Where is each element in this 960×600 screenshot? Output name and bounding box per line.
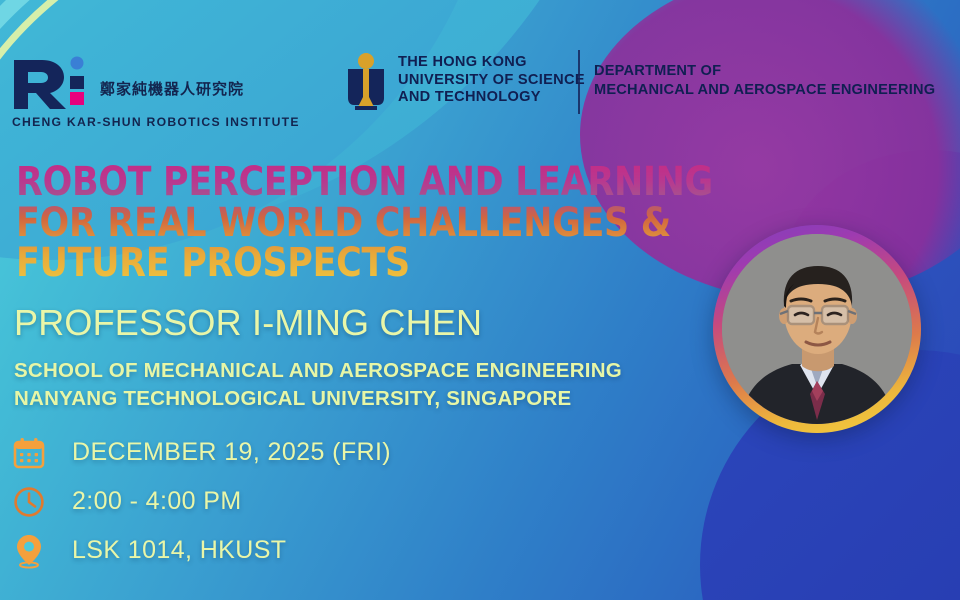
header-divider	[578, 50, 580, 114]
calendar-icon-wrap	[12, 436, 58, 470]
event-time-text: 2:00 - 4:00 PM	[58, 487, 242, 516]
page-title: ROBOT PERCEPTION AND LEARNING FOR REAL W…	[16, 162, 713, 284]
hkust-shield-icon	[344, 52, 388, 112]
speaker-affiliation: SCHOOL OF MECHANICAL AND AEROSPACE ENGIN…	[14, 357, 622, 413]
seminar-poster: 鄭家純機器人研究院 CHENG KAR-SHUN ROBOTICS INSTIT…	[0, 0, 960, 600]
department-line-1: DEPARTMENT OF	[594, 62, 935, 81]
speaker-portrait-frame	[713, 225, 921, 433]
location-pin-icon	[12, 533, 46, 569]
hkust-line-1: THE HONG KONG	[398, 54, 585, 72]
event-detail-row-date: DECEMBER 19, 2025 (FRI)	[12, 428, 391, 477]
calendar-icon	[12, 436, 46, 470]
event-venue-text: LSK 1014, HKUST	[58, 536, 286, 565]
title-line-3: FUTURE PROSPECTS	[16, 243, 713, 284]
ri-institute-logo: 鄭家純機器人研究院 CHENG KAR-SHUN ROBOTICS INSTIT…	[12, 52, 92, 110]
hkust-logo-text: THE HONG KONG UNIVERSITY OF SCIENCE AND …	[398, 52, 585, 107]
event-detail-row-venue: LSK 1014, HKUST	[12, 526, 391, 575]
affiliation-line-2: NANYANG TECHNOLOGICAL UNIVERSITY, SINGAP…	[14, 385, 622, 413]
ri-logo-chinese-name: 鄭家純機器人研究院	[100, 78, 244, 99]
clock-icon	[12, 485, 46, 519]
hkust-line-3: AND TECHNOLOGY	[398, 89, 585, 107]
department-name: DEPARTMENT OF MECHANICAL AND AEROSPACE E…	[594, 62, 935, 100]
speaker-photo-illustration	[722, 234, 912, 424]
ri-logo-icon	[12, 52, 92, 110]
affiliation-line-1: SCHOOL OF MECHANICAL AND AEROSPACE ENGIN…	[14, 357, 622, 385]
hkust-logo: THE HONG KONG UNIVERSITY OF SCIENCE AND …	[344, 52, 585, 112]
location-pin-icon-wrap	[12, 533, 58, 569]
title-line-2: FOR REAL WORLD CHALLENGES &	[16, 203, 713, 244]
poster-header: 鄭家純機器人研究院 CHENG KAR-SHUN ROBOTICS INSTIT…	[0, 0, 960, 140]
department-line-2: MECHANICAL AND AEROSPACE ENGINEERING	[594, 81, 935, 100]
speaker-name: PROFESSOR I-MING CHEN	[14, 303, 482, 343]
event-details: DECEMBER 19, 2025 (FRI) 2:00 - 4:00 PM L…	[12, 428, 391, 575]
hkust-line-2: UNIVERSITY OF SCIENCE	[398, 72, 585, 90]
speaker-portrait	[722, 234, 912, 424]
clock-icon-wrap	[12, 485, 58, 519]
ri-logo-english-name: CHENG KAR-SHUN ROBOTICS INSTITUTE	[12, 115, 300, 129]
title-line-1: ROBOT PERCEPTION AND LEARNING	[16, 162, 713, 203]
event-detail-row-time: 2:00 - 4:00 PM	[12, 477, 391, 526]
event-date-text: DECEMBER 19, 2025 (FRI)	[58, 438, 391, 467]
